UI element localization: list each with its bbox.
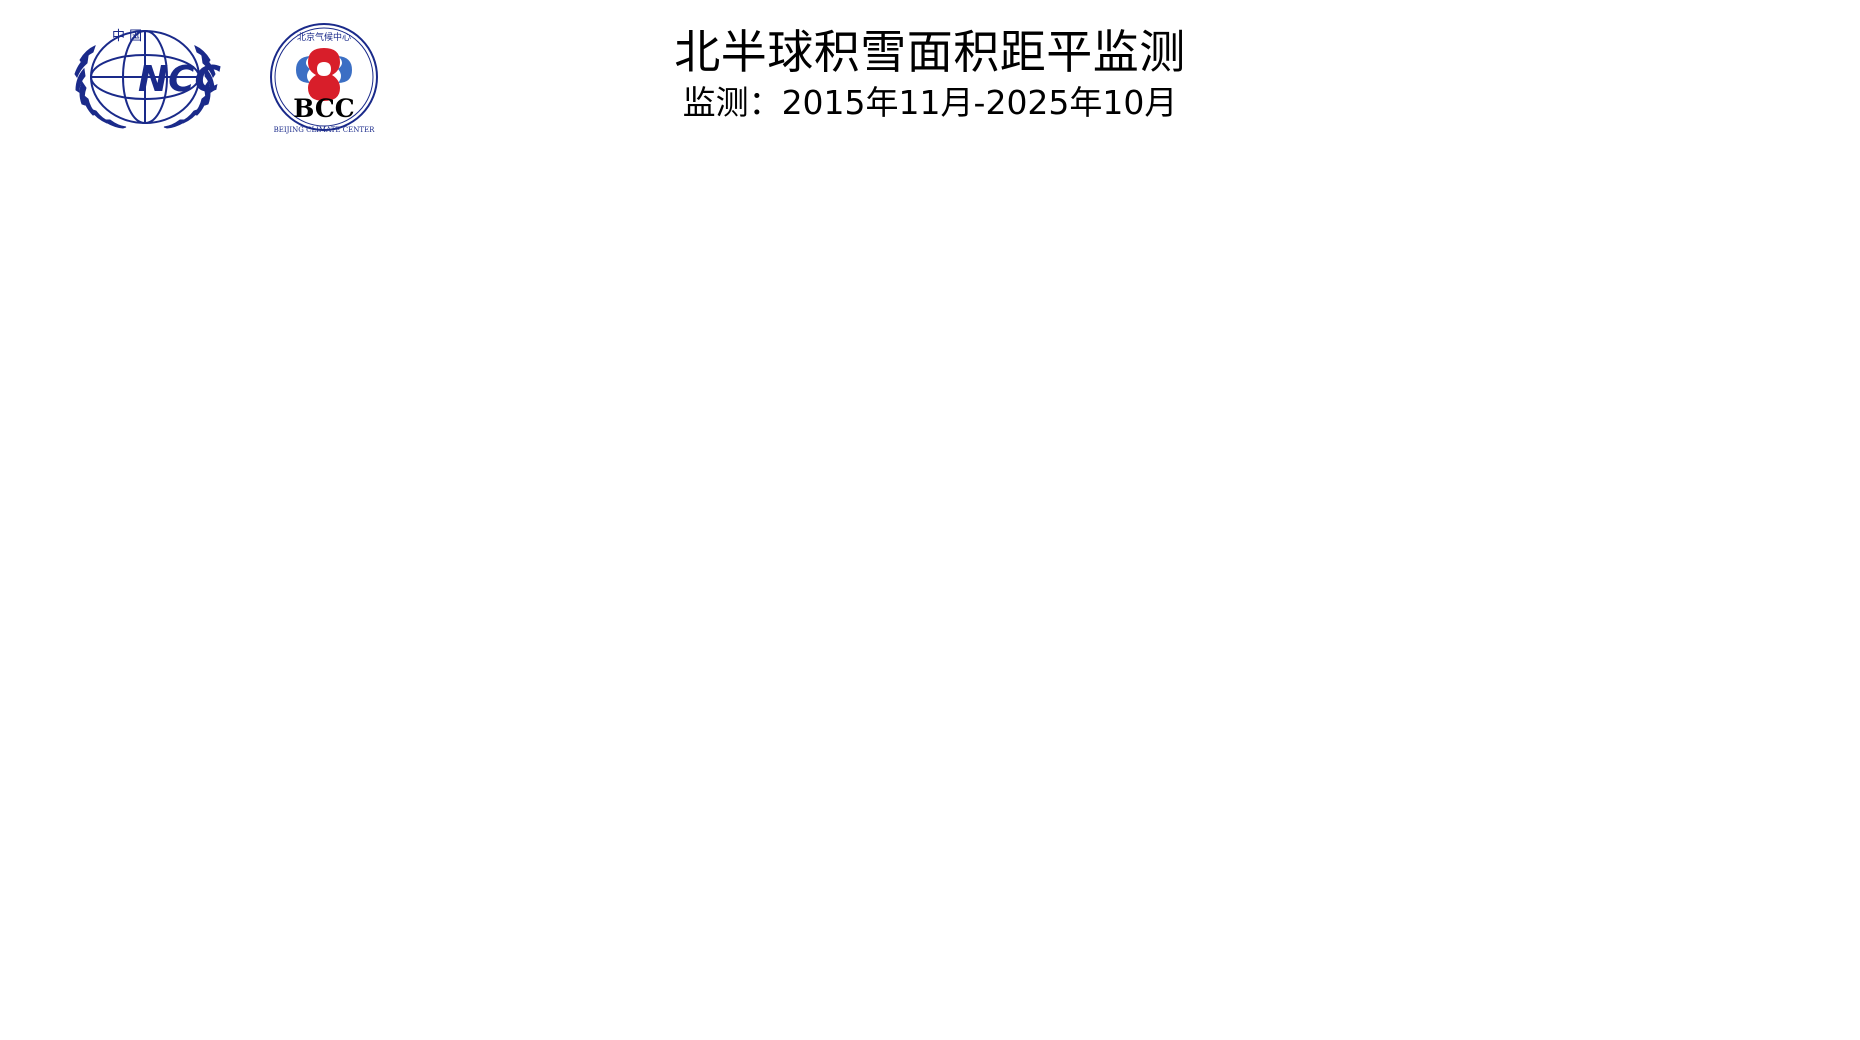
chart-page: 中 国 NCC BCC 北京气候中心 BEIJING CLIMATE CENTE… — [0, 0, 1860, 1040]
chart-area — [0, 0, 1860, 1040]
snow-anomaly-chart — [0, 0, 1860, 1040]
